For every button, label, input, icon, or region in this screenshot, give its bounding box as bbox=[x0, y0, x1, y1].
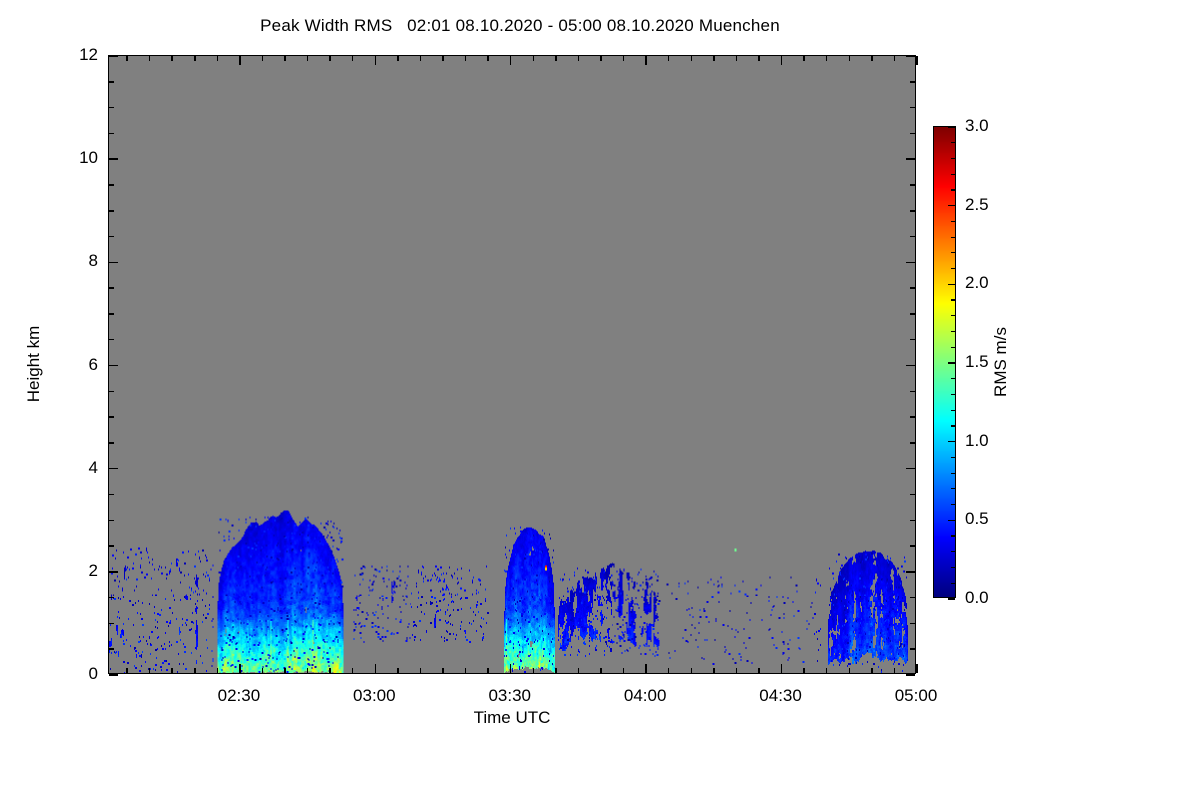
y-axis-tick bbox=[910, 520, 915, 522]
colorbar-tick-minor bbox=[951, 347, 955, 348]
y-axis-tick bbox=[109, 236, 114, 238]
colorbar-tick bbox=[948, 520, 955, 521]
x-tick-label: 04:00 bbox=[624, 686, 667, 706]
x-axis-tick bbox=[533, 668, 535, 673]
y-axis-tick bbox=[109, 365, 118, 367]
x-axis-tick bbox=[375, 56, 377, 65]
x-axis-tick bbox=[352, 56, 354, 61]
y-axis-tick bbox=[109, 571, 118, 573]
x-axis-tick bbox=[645, 56, 647, 65]
x-axis-tick bbox=[397, 668, 399, 673]
y-axis-tick bbox=[109, 468, 118, 470]
colorbar-tick-minor bbox=[951, 535, 955, 536]
x-tick-label: 04:30 bbox=[759, 686, 802, 706]
colorbar-tick-minor bbox=[951, 425, 955, 426]
x-axis-tick bbox=[668, 56, 670, 61]
colorbar-tick-minor bbox=[951, 268, 955, 269]
x-axis-tick bbox=[758, 56, 760, 61]
y-axis-tick bbox=[910, 545, 915, 547]
y-tick-label: 2 bbox=[52, 561, 98, 581]
y-tick-label: 0 bbox=[52, 664, 98, 684]
colorbar-tick-minor bbox=[951, 252, 955, 253]
x-axis-tick bbox=[600, 56, 602, 61]
y-axis-tick bbox=[910, 184, 915, 186]
y-axis-tick bbox=[910, 442, 915, 444]
y-axis-tick bbox=[109, 133, 114, 135]
y-axis-tick bbox=[109, 158, 118, 160]
colorbar-tick-label: 2.0 bbox=[965, 273, 989, 293]
y-tick-label: 10 bbox=[52, 148, 98, 168]
x-axis-tick bbox=[691, 56, 693, 61]
y-axis-tick bbox=[109, 339, 114, 341]
page-title: Peak Width RMS 02:01 08.10.2020 - 05:00 … bbox=[0, 16, 1040, 36]
colorbar-tick-minor bbox=[951, 158, 955, 159]
x-axis-tick bbox=[397, 56, 399, 61]
x-axis-tick bbox=[307, 56, 309, 61]
x-axis-tick bbox=[262, 56, 264, 61]
plot-area[interactable] bbox=[108, 55, 916, 674]
x-axis-tick bbox=[239, 56, 241, 65]
x-axis-tick bbox=[194, 56, 196, 61]
x-axis-tick bbox=[555, 668, 557, 673]
colorbar-tick-label: 1.0 bbox=[965, 431, 989, 451]
x-tick-label: 03:30 bbox=[488, 686, 531, 706]
y-axis-tick bbox=[910, 597, 915, 599]
y-axis-tick bbox=[910, 133, 915, 135]
y-axis-tick bbox=[109, 648, 114, 650]
x-axis-tick bbox=[849, 668, 851, 673]
colorbar-tick-minor bbox=[951, 299, 955, 300]
x-axis-tick bbox=[713, 668, 715, 673]
y-axis-tick bbox=[910, 107, 915, 109]
y-axis-tick bbox=[109, 81, 114, 83]
heatmap-data-canvas bbox=[109, 56, 915, 673]
y-axis-tick bbox=[906, 365, 915, 367]
colorbar-tick-label: 3.0 bbox=[965, 116, 989, 136]
y-axis-tick bbox=[109, 520, 114, 522]
x-axis-tick bbox=[849, 56, 851, 61]
x-axis-tick bbox=[645, 664, 647, 673]
x-axis-tick bbox=[803, 668, 805, 673]
x-axis-tick bbox=[442, 56, 444, 61]
colorbar-tick-label: 2.5 bbox=[965, 195, 989, 215]
x-axis-tick bbox=[916, 664, 918, 673]
x-axis-tick bbox=[826, 56, 828, 61]
y-axis-tick bbox=[109, 494, 114, 496]
x-axis-tick bbox=[510, 664, 512, 673]
x-axis-tick bbox=[736, 56, 738, 61]
colorbar-tick-minor bbox=[951, 174, 955, 175]
x-axis-tick bbox=[781, 56, 783, 65]
x-axis-tick bbox=[871, 56, 873, 61]
x-axis-tick bbox=[894, 56, 896, 61]
y-axis-tick bbox=[109, 416, 114, 418]
y-axis-tick bbox=[109, 674, 118, 676]
x-axis-tick bbox=[194, 668, 196, 673]
x-axis-tick bbox=[217, 668, 219, 673]
y-axis-tick bbox=[109, 287, 114, 289]
colorbar-tick-minor bbox=[951, 410, 955, 411]
colorbar[interactable] bbox=[933, 126, 956, 598]
colorbar-tick bbox=[948, 126, 955, 127]
x-axis-tick bbox=[126, 668, 128, 673]
y-axis-tick bbox=[910, 494, 915, 496]
y-axis-tick bbox=[906, 262, 915, 264]
y-axis-tick bbox=[906, 468, 915, 470]
x-axis-tick bbox=[555, 56, 557, 61]
figure-canvas: Peak Width RMS 02:01 08.10.2020 - 05:00 … bbox=[0, 0, 1200, 800]
y-tick-label: 12 bbox=[52, 45, 98, 65]
colorbar-tick-minor bbox=[951, 551, 955, 552]
x-axis-tick bbox=[578, 56, 580, 61]
colorbar-tick-label: 0.0 bbox=[965, 588, 989, 608]
colorbar-tick bbox=[948, 362, 955, 363]
x-axis-tick bbox=[420, 56, 422, 61]
x-axis-tick bbox=[284, 668, 286, 673]
x-axis-tick bbox=[871, 668, 873, 673]
x-tick-label: 05:00 bbox=[895, 686, 938, 706]
y-axis-tick bbox=[906, 55, 915, 57]
y-axis-tick bbox=[906, 158, 915, 160]
colorbar-tick-minor bbox=[951, 457, 955, 458]
x-axis-tick bbox=[736, 668, 738, 673]
x-axis-tick bbox=[171, 56, 173, 61]
y-axis-tick bbox=[910, 416, 915, 418]
colorbar-label: RMS m/s bbox=[991, 327, 1011, 397]
x-axis-tick bbox=[487, 56, 489, 61]
y-axis-tick bbox=[910, 339, 915, 341]
y-axis-tick bbox=[109, 184, 114, 186]
colorbar-tick-minor bbox=[951, 221, 955, 222]
y-axis-label: Height km bbox=[24, 326, 44, 403]
colorbar-tick-minor bbox=[951, 583, 955, 584]
x-axis-tick bbox=[533, 56, 535, 61]
y-axis-tick bbox=[109, 391, 114, 393]
y-axis-tick bbox=[109, 545, 114, 547]
x-axis-tick bbox=[329, 56, 331, 61]
x-axis-label: Time UTC bbox=[108, 708, 916, 728]
colorbar-tick-minor bbox=[951, 142, 955, 143]
x-axis-tick bbox=[916, 56, 918, 65]
colorbar-tick-minor bbox=[951, 315, 955, 316]
y-tick-label: 6 bbox=[52, 355, 98, 375]
colorbar-tick-label: 1.5 bbox=[965, 352, 989, 372]
x-axis-tick bbox=[329, 668, 331, 673]
x-axis-tick bbox=[894, 668, 896, 673]
colorbar-tick-label: 0.5 bbox=[965, 509, 989, 529]
x-axis-tick bbox=[465, 668, 467, 673]
x-axis-tick bbox=[510, 56, 512, 65]
x-axis-tick bbox=[262, 668, 264, 673]
x-tick-label: 03:00 bbox=[353, 686, 396, 706]
x-axis-tick bbox=[668, 668, 670, 673]
y-axis-tick bbox=[910, 391, 915, 393]
y-axis-tick bbox=[910, 287, 915, 289]
x-axis-tick bbox=[623, 56, 625, 61]
y-axis-tick bbox=[910, 313, 915, 315]
y-axis-tick bbox=[910, 648, 915, 650]
x-axis-tick bbox=[803, 56, 805, 61]
x-axis-tick bbox=[284, 56, 286, 61]
x-axis-tick bbox=[239, 664, 241, 673]
colorbar-tick-minor bbox=[951, 394, 955, 395]
x-axis-tick bbox=[352, 668, 354, 673]
x-axis-tick bbox=[375, 664, 377, 673]
x-axis-tick bbox=[442, 668, 444, 673]
colorbar-tick-minor bbox=[951, 473, 955, 474]
y-tick-label: 8 bbox=[52, 251, 98, 271]
x-axis-tick bbox=[307, 668, 309, 673]
x-axis-tick bbox=[758, 668, 760, 673]
colorbar-tick-minor bbox=[951, 237, 955, 238]
colorbar-tick-minor bbox=[951, 189, 955, 190]
colorbar-tick bbox=[948, 205, 955, 206]
x-axis-tick bbox=[713, 56, 715, 61]
y-tick-label: 4 bbox=[52, 458, 98, 478]
x-axis-tick bbox=[487, 668, 489, 673]
y-axis-tick bbox=[910, 81, 915, 83]
x-axis-tick bbox=[623, 668, 625, 673]
colorbar-tick-minor bbox=[951, 567, 955, 568]
x-axis-tick bbox=[578, 668, 580, 673]
colorbar-tick-minor bbox=[951, 331, 955, 332]
y-axis-tick bbox=[109, 262, 118, 264]
y-axis-tick bbox=[910, 623, 915, 625]
colorbar-tick-minor bbox=[951, 504, 955, 505]
y-axis-tick bbox=[910, 210, 915, 212]
colorbar-tick bbox=[948, 284, 955, 285]
x-axis-tick bbox=[826, 668, 828, 673]
y-axis-tick bbox=[910, 236, 915, 238]
x-axis-tick bbox=[600, 668, 602, 673]
x-axis-tick bbox=[420, 668, 422, 673]
colorbar-tick bbox=[948, 441, 955, 442]
y-axis-tick bbox=[906, 571, 915, 573]
y-axis-tick bbox=[109, 623, 114, 625]
x-axis-tick bbox=[781, 664, 783, 673]
colorbar-tick-minor bbox=[951, 378, 955, 379]
y-axis-tick bbox=[906, 674, 915, 676]
x-axis-tick bbox=[465, 56, 467, 61]
x-axis-tick bbox=[149, 56, 151, 61]
y-axis-tick bbox=[109, 107, 114, 109]
x-axis-tick bbox=[126, 56, 128, 61]
colorbar-tick bbox=[948, 598, 955, 599]
y-axis-tick bbox=[109, 55, 118, 57]
y-axis-tick bbox=[109, 597, 114, 599]
x-axis-tick bbox=[217, 56, 219, 61]
colorbar-tick-minor bbox=[951, 488, 955, 489]
x-axis-tick bbox=[691, 668, 693, 673]
y-axis-tick bbox=[109, 210, 114, 212]
x-axis-tick bbox=[171, 668, 173, 673]
y-axis-tick bbox=[109, 442, 114, 444]
x-axis-tick bbox=[149, 668, 151, 673]
x-tick-label: 02:30 bbox=[218, 686, 261, 706]
y-axis-tick bbox=[109, 313, 114, 315]
